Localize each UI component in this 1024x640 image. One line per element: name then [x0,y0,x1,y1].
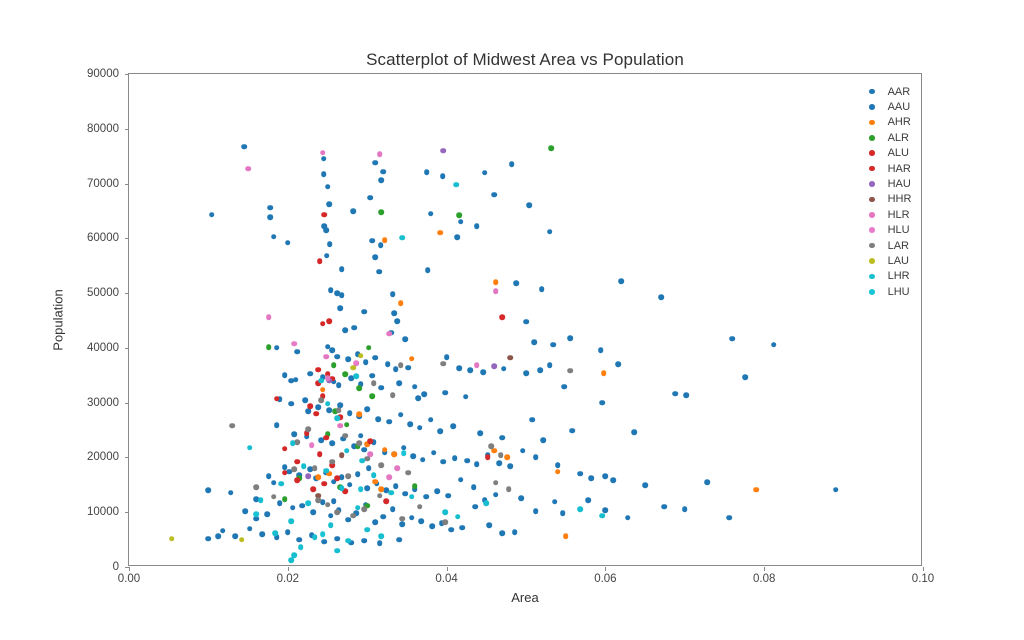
scatter-point [364,406,370,412]
scatter-point [520,448,526,454]
scatter-point [491,363,497,369]
scatter-point [369,373,375,379]
x-tick-label: 0.04 [435,573,457,585]
scatter-point [407,421,413,427]
scatter-point [561,384,567,390]
scatter-point [290,440,296,446]
scatter-point [271,234,277,240]
y-tick-label: 30000 [87,397,119,409]
scatter-point [321,156,327,162]
legend-label: LAU [888,255,909,267]
scatter-point [334,475,340,481]
scatter-point [309,443,315,449]
scatter-point [569,428,575,434]
legend-item-lhr[interactable]: LHR [862,269,922,284]
scatter-point [493,480,499,486]
scatter-point [266,473,272,479]
scatter-point [530,417,536,423]
scatter-point [422,392,428,398]
scatter-point [454,234,460,240]
scatter-point [274,396,280,402]
scatter-point [285,529,291,535]
scatter-point [477,431,483,437]
scatter-point [342,371,348,377]
scatter-point [442,390,448,396]
scatter-point [385,362,391,368]
scatter-point [271,494,277,500]
plot-area: 0100002000030000400005000060000700008000… [128,73,922,566]
legend-swatch-icon [869,150,875,156]
scatter-point [372,355,378,361]
scatter-point [457,365,463,371]
legend-swatch-icon [869,181,875,187]
scatter-point [568,335,574,341]
scatter-point [253,484,259,490]
scatter-point [345,357,351,363]
scatter-point [266,345,272,351]
scatter-point [833,487,839,493]
legend-item-hlr[interactable]: HLR [862,207,922,222]
scatter-point [266,314,272,320]
chart-title: Scatterplot of Midwest Area vs Populatio… [128,50,922,70]
scatter-point [577,506,583,512]
scatter-point [253,512,259,518]
legend-item-aau[interactable]: AAU [862,99,922,114]
scatter-point [398,412,404,418]
scatter-point [504,455,510,461]
legend-item-alu[interactable]: ALU [862,146,922,161]
scatter-point [339,293,345,299]
scatter-point [526,203,532,209]
scatter-point [288,558,294,564]
scatter-point [312,466,318,472]
scatter-point [382,447,388,453]
scatter-point [615,362,621,368]
scatter-point [396,380,402,386]
y-tick-mark [125,512,129,513]
scatter-point [658,294,664,300]
scatter-point [601,370,607,376]
scatter-point [342,433,348,439]
legend-item-hlu[interactable]: HLU [862,223,922,238]
y-tick-label: 50000 [87,287,119,299]
scatter-point [285,240,291,246]
scatter-point [506,486,512,492]
scatter-point [328,523,334,529]
y-tick-mark [125,74,129,75]
scatter-point [369,393,375,399]
scatter-point [295,459,301,465]
scatter-point [361,506,367,512]
scatter-point [531,340,537,346]
scatter-point [260,531,266,537]
scatter-point [588,475,594,481]
scatter-point [355,472,361,478]
x-tick-mark [129,567,130,571]
scatter-point [452,455,458,461]
legend-label: HAU [888,178,911,190]
x-tick-mark [923,567,924,571]
scatter-point [493,492,499,498]
scatter-point [288,401,294,407]
scatter-point [350,365,356,371]
scatter-point [358,486,364,492]
legend-label: HHR [888,193,912,205]
scatter-point [491,192,497,198]
scatter-points-layer [129,74,921,565]
scatter-point [320,531,326,537]
scatter-point [533,508,539,514]
scatter-point [539,286,545,292]
scatter-point [485,455,491,461]
scatter-point [383,498,389,504]
y-tick-label: 80000 [87,123,119,135]
scatter-point [317,259,323,265]
scatter-point [523,319,529,325]
scatter-point [742,375,748,381]
scatter-point [480,369,486,375]
scatter-point [322,539,328,545]
scatter-point [364,485,370,491]
scatter-point [274,422,280,428]
scatter-point [437,428,443,434]
scatter-point [334,415,340,421]
scatter-point [323,227,329,233]
legend-swatch-icon [869,274,875,280]
legend-item-har[interactable]: HAR [862,161,922,176]
scatter-point [356,411,362,417]
x-tick-label: 0.08 [753,573,775,585]
scatter-point [555,469,561,475]
scatter-point [310,509,316,515]
scatter-point [331,363,337,369]
scatter-point [399,521,405,527]
legend-label: ALR [888,132,909,144]
scatter-point [350,513,356,519]
scatter-point [458,477,464,483]
scatter-point [363,359,369,365]
scatter-point [291,467,297,473]
scatter-point [279,481,285,487]
scatter-point [327,242,333,248]
scatter-point [541,437,547,443]
scatter-point [431,450,437,456]
scatter-point [417,425,423,431]
scatter-point [358,433,364,439]
scatter-point [684,392,690,398]
scatter-point [441,361,447,367]
scatter-point [307,403,313,409]
legend-item-ahr[interactable]: AHR [862,115,922,130]
scatter-point [507,355,513,361]
scatter-point [220,528,226,534]
scatter-point [547,229,553,235]
scatter-point [379,534,385,540]
scatter-point [282,446,288,452]
scatter-point [245,166,251,172]
scatter-point [337,306,343,312]
scatter-point [366,345,372,351]
scatter-point [499,530,505,536]
scatter-point [496,460,502,466]
scatter-point [409,356,415,362]
scatter-point [598,347,604,353]
legend-swatch-icon [869,258,875,264]
scatter-point [347,482,353,488]
scatter-point [242,508,248,514]
scatter-point [401,450,407,456]
legend-label: LHR [888,270,910,282]
scatter-point [336,408,342,414]
scatter-point [361,309,367,315]
scatter-point [518,495,524,501]
scatter-point [424,169,430,175]
scatter-point [533,455,539,461]
scatter-point [672,391,678,397]
legend-label: HLU [888,224,910,236]
y-tick-mark [125,457,129,458]
scatter-point [293,377,299,383]
y-tick-label: 0 [113,561,119,573]
legend-swatch-icon [869,289,875,295]
scatter-point [514,280,520,286]
scatter-point [369,238,375,244]
scatter-point [625,515,631,521]
scatter-point [395,318,401,324]
scatter-point [474,223,480,229]
legend-label: ALU [888,147,909,159]
scatter-point [440,174,446,180]
scatter-point [296,537,302,543]
scatter-point [726,515,732,521]
scatter-point [282,372,288,378]
scatter-point [420,457,426,463]
scatter-point [247,526,253,532]
scatter-point [360,458,366,464]
y-tick-mark [125,293,129,294]
scatter-point [368,438,374,444]
scatter-point [441,148,447,154]
scatter-point [345,473,351,479]
scatter-point [468,368,474,374]
scatter-point [320,387,326,393]
scatter-point [387,419,393,425]
scatter-point [493,279,499,285]
x-tick-label: 0.10 [912,573,934,585]
scatter-point [387,331,393,337]
scatter-point [453,182,459,188]
scatter-point [437,230,443,236]
scatter-point [310,486,316,492]
x-tick-mark [764,567,765,571]
legend-swatch-icon [869,135,875,141]
scatter-point [334,354,340,360]
scatter-point [307,371,313,377]
legend-swatch-icon [869,166,875,172]
scatter-point [325,375,331,381]
y-tick-mark [125,403,129,404]
scatter-point [410,454,416,460]
scatter-point [603,473,609,479]
scatter-point [268,214,274,220]
scatter-point [464,458,470,464]
scatter-point [415,395,421,401]
scatter-point [306,409,312,415]
scatter-point [326,318,332,324]
scatter-point [423,494,429,500]
scatter-point [376,416,382,422]
scatter-point [547,363,553,369]
scatter-point [302,398,308,404]
scatter-point [323,354,329,360]
scatter-point [228,490,234,496]
x-tick-mark [605,567,606,571]
scatter-point [372,479,378,485]
y-axis-label: Population [51,289,66,350]
scatter-point [290,505,296,511]
scatter-point [403,336,409,342]
scatter-point [403,491,409,497]
scatter-point [499,435,505,441]
scatter-point [487,523,493,529]
scatter-point [322,212,328,218]
scatter-point [523,370,529,376]
scatter-point [233,534,239,540]
scatter-point [455,514,461,520]
scatter-point [312,535,318,541]
x-tick-label: 0.00 [118,573,140,585]
legend-item-hau[interactable]: HAU [862,176,922,191]
scatter-point [318,378,324,384]
scatter-point [430,524,436,530]
x-tick-mark [288,567,289,571]
y-tick-label: 10000 [87,506,119,518]
scatter-point [771,342,777,348]
figure-canvas: Scatterplot of Midwest Area vs Populatio… [0,0,1024,640]
scatter-point [258,497,264,503]
legend-item-hhr[interactable]: HHR [862,192,922,207]
legend-item-aar[interactable]: AAR [862,84,922,99]
legend-item-lhu[interactable]: LHU [862,284,922,299]
scatter-point [458,219,464,225]
scatter-point [457,213,463,219]
scatter-point [507,463,513,469]
scatter-point [642,483,648,489]
scatter-point [550,342,556,348]
scatter-point [274,345,280,351]
scatter-point [264,512,270,518]
scatter-point [704,479,710,485]
legend-swatch-icon [869,197,875,203]
scatter-point [318,398,324,404]
y-tick-mark [125,238,129,239]
scatter-point [474,363,480,369]
scatter-point [442,509,448,515]
y-tick-label: 40000 [87,342,119,354]
scatter-point [241,144,247,150]
scatter-point [730,336,736,342]
scatter-point [347,410,353,416]
scatter-point [549,145,555,151]
scatter-point [206,488,212,494]
scatter-point [366,466,372,472]
scatter-point [306,473,312,479]
scatter-point [463,394,469,400]
scatter-point [372,254,378,260]
legend-label: AAU [888,101,911,113]
y-tick-mark [125,348,129,349]
legend-label: HAR [888,163,911,175]
scatter-point [364,527,370,533]
scatter-point [488,444,494,450]
scatter-point [239,537,245,543]
scatter-point [329,347,335,353]
scatter-point [288,518,294,524]
scatter-point [376,269,382,275]
scatter-point [498,452,504,458]
scatter-point [301,463,307,469]
scatter-point [409,494,415,500]
scatter-point [631,429,637,435]
scatter-point [361,538,367,544]
scatter-point [342,328,348,334]
scatter-point [379,209,385,215]
scatter-point [209,212,215,218]
scatter-point [753,487,759,493]
x-tick-label: 0.06 [594,573,616,585]
scatter-point [377,151,383,157]
legend-label: AHR [888,116,911,128]
scatter-point [372,519,378,525]
scatter-point [352,325,358,331]
scatter-point [406,470,412,476]
scatter-point [315,497,321,503]
scatter-point [364,456,370,462]
scatter-point [380,169,386,175]
scatter-point [409,515,415,521]
scatter-point [326,408,332,414]
scatter-point [445,493,451,499]
scatter-point [361,447,367,453]
y-tick-label: 70000 [87,178,119,190]
scatter-point [428,211,434,217]
scatter-point [434,489,440,495]
scatter-point [391,451,397,457]
scatter-point [442,519,448,525]
scatter-point [323,435,329,441]
scatter-point [380,514,386,520]
scatter-point [372,160,378,166]
legend-item-alr[interactable]: ALR [862,130,922,145]
scatter-point [418,518,424,524]
scatter-point [322,481,328,487]
legend-swatch-icon [869,243,875,249]
scatter-point [229,423,235,429]
scatter-point [325,502,331,508]
scatter-point [371,380,377,386]
legend-swatch-icon [869,89,875,95]
scatter-point [215,534,221,540]
scatter-point [377,541,383,547]
legend: AARAAUAHRALRALUHARHAUHHRHLRHLULARLAULHRL… [862,80,922,303]
scatter-point [337,423,343,429]
legend-item-lau[interactable]: LAU [862,253,922,268]
scatter-point [306,426,312,432]
legend-swatch-icon [869,227,875,233]
scatter-point [329,440,335,446]
legend-label: AAR [888,86,911,98]
legend-item-lar[interactable]: LAR [862,238,922,253]
